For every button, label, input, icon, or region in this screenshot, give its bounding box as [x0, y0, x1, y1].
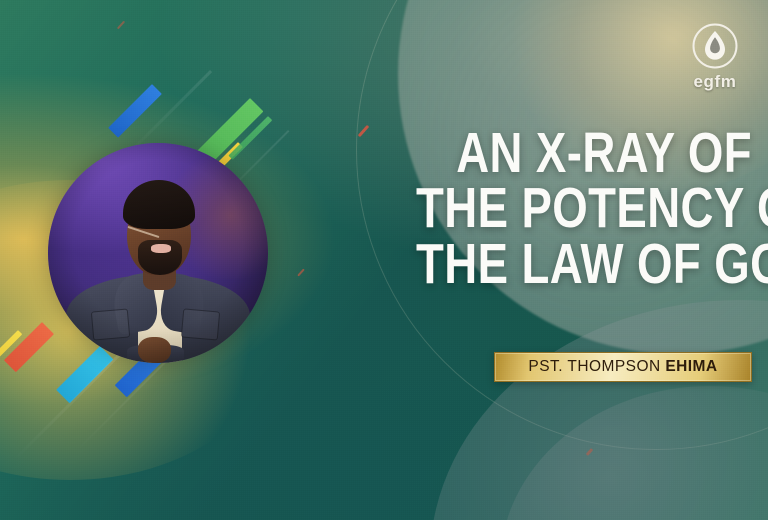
brand-logo: egfm: [684, 22, 746, 90]
title-line-3: THE LAW OF GOD: [416, 237, 752, 292]
speaker-surname: EHIMA: [665, 358, 717, 375]
brand-wordmark: egfm: [684, 73, 746, 90]
speaker-portrait: [48, 143, 268, 363]
title-line-2: THE POTENCY OF: [416, 181, 752, 236]
flame-drop-icon: [691, 22, 739, 70]
speaker-name-prefix: PST. THOMPSON: [528, 358, 665, 375]
title-line-1: AN X-RAY OF: [416, 126, 752, 181]
sermon-poster: egfm AN X-RAY OF THE POTENCY OF THE LAW …: [0, 0, 768, 520]
speaker-name: PST. THOMPSON EHIMA: [528, 358, 717, 376]
speaker-name-banner: PST. THOMPSON EHIMA: [494, 352, 752, 382]
portrait-vignette: [48, 143, 268, 363]
sermon-title: AN X-RAY OF THE POTENCY OF THE LAW OF GO…: [332, 126, 752, 292]
